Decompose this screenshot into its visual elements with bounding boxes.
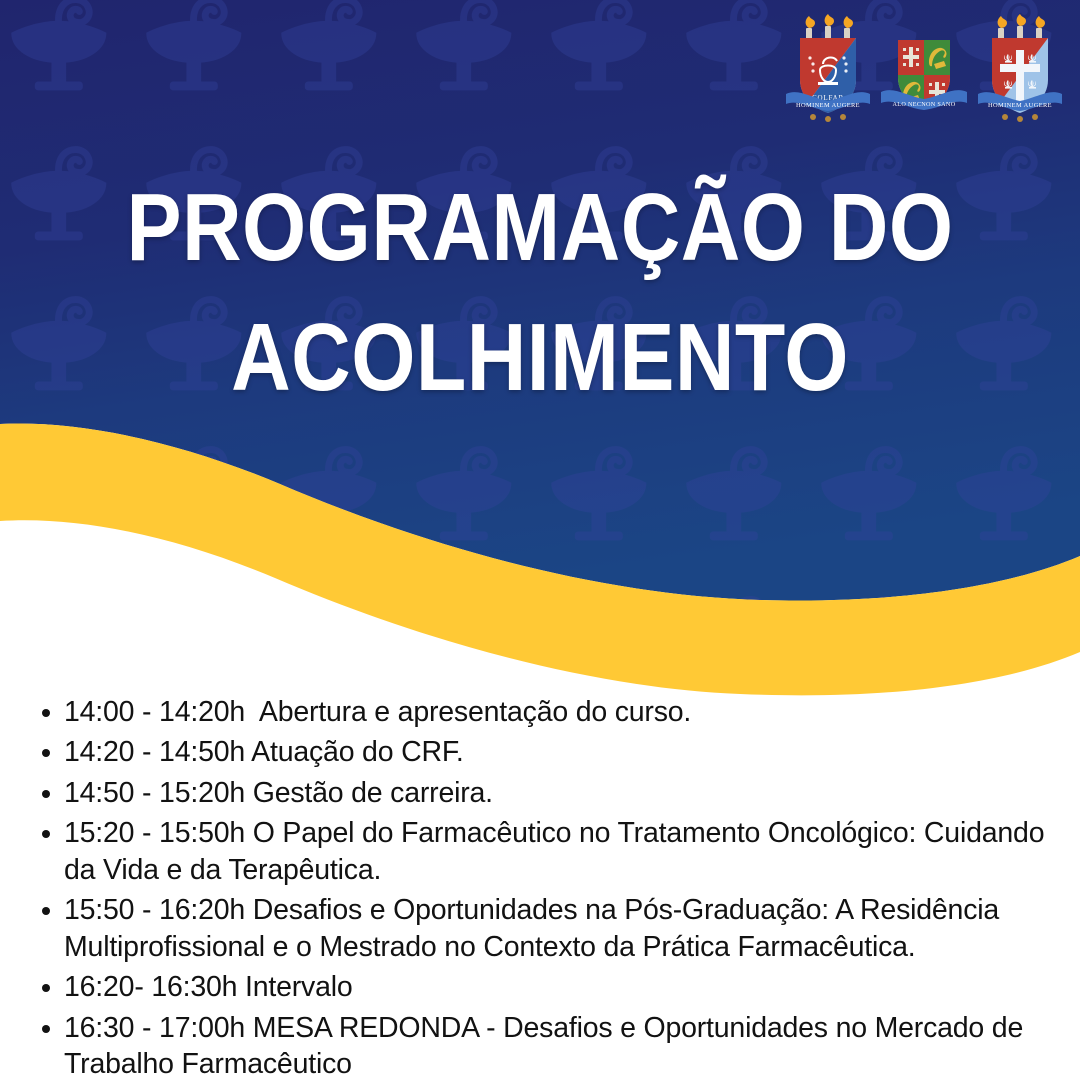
crest-ribbon-text: HOMINEM AUGERE [796, 102, 860, 109]
schedule-item-text: 16:20- 16:30h Intervalo [64, 971, 353, 1003]
institutional-logos: COLFAR HOMINEM AUGERE [782, 14, 1066, 122]
crest-ribbon-text: ALO NECNON SANO [893, 101, 956, 108]
schedule-item-text: 14:00 - 14:20h Abertura e apresentação d… [64, 696, 691, 728]
logo-colfar-crest: COLFAR HOMINEM AUGERE [782, 14, 874, 122]
logo-ufpi-crest: HOMINEM AUGERE [974, 14, 1066, 122]
torch-icon-group [806, 14, 853, 41]
crest-ribbon-text: HOMINEM AUGERE [988, 102, 1052, 109]
schedule-item: 16:30 - 17:00h MESA REDONDA - Desafios e… [30, 1010, 1060, 1080]
schedule-item-text: 15:20 - 15:50h O Papel do Farmacêutico n… [64, 817, 1052, 885]
logo-alo-necnon-sano-crest: ALO NECNON SANO [878, 14, 970, 122]
bullet-icon [42, 709, 50, 717]
schedule-item-text: 16:30 - 17:00h MESA REDONDA - Desafios e… [64, 1012, 1030, 1080]
schedule-item: 15:20 - 15:50h O Papel do Farmacêutico n… [30, 815, 1060, 888]
bullet-icon [42, 830, 50, 838]
schedule-item-text: 14:20 - 14:50h Atuação do CRF. [64, 736, 464, 768]
bullet-icon [42, 1025, 50, 1033]
bullet-icon [42, 749, 50, 757]
bullet-icon [42, 790, 50, 798]
schedule-item: 14:20 - 14:50h Atuação do CRF. [30, 734, 1060, 770]
bullet-icon [42, 984, 50, 992]
schedule-item: 15:50 - 16:20h Desafios e Oportunidades … [30, 892, 1060, 965]
schedule-item: 14:50 - 15:20h Gestão de carreira. [30, 775, 1060, 811]
torch-icon-group [998, 14, 1045, 41]
schedule-item: 14:00 - 14:20h Abertura e apresentação d… [30, 694, 1060, 730]
schedule-item: 16:20- 16:30h Intervalo [30, 969, 1060, 1005]
schedule-item-text: 14:50 - 15:20h Gestão de carreira. [64, 777, 493, 809]
schedule-list: 14:00 - 14:20h Abertura e apresentação d… [30, 694, 1060, 1080]
poster-canvas: COLFAR HOMINEM AUGERE [0, 0, 1080, 1080]
schedule-item-text: 15:50 - 16:20h Desafios e Oportunidades … [64, 894, 1007, 962]
bullet-icon [42, 907, 50, 915]
